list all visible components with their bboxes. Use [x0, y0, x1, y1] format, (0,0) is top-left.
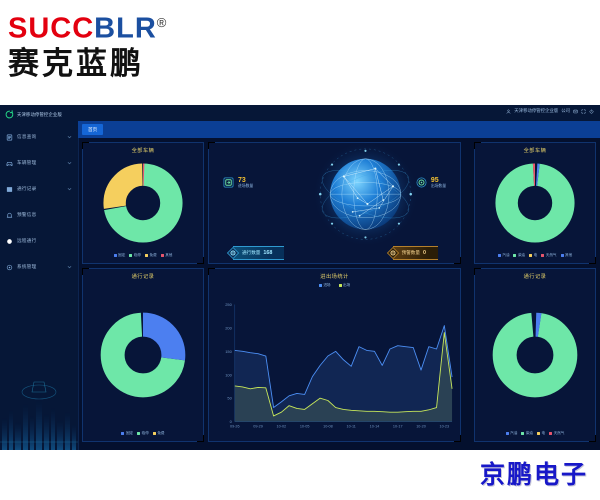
bell-icon	[6, 212, 13, 219]
sidebar-item-label: 远程通行	[17, 238, 37, 244]
x-axis-tick-label: 10-20	[416, 425, 426, 429]
kpi-exit-count: 95 出场数量	[416, 177, 446, 189]
donut-chart-passage-fuel	[475, 282, 595, 427]
donut-chart-all-vehicles-fuel	[475, 156, 595, 249]
y-axis-tick-label: 50	[227, 396, 232, 401]
legend-item: 电	[537, 431, 545, 436]
legend-label: 其他	[565, 253, 572, 258]
user-icon	[506, 109, 511, 114]
panel-all-vehicles-fuel: 全部车辆 汽油 柴油 电 天然气 其他	[474, 142, 596, 264]
legend-label: 电	[534, 253, 538, 258]
fullscreen-icon[interactable]	[581, 109, 586, 114]
panel-passage-statistics: 进出场统计 进场 出场 05010015020025009-2609-2910-…	[208, 268, 461, 442]
clipboard-icon	[6, 134, 13, 141]
legend-item: 临停	[137, 431, 149, 436]
panel-legend: 汽油 柴油 电 天然气 其他	[475, 253, 595, 258]
sidebar-item-label: 预警信息	[17, 212, 37, 218]
x-axis-tick-label: 10-05	[300, 425, 310, 429]
legend-label: 汽油	[502, 253, 509, 258]
sidebar-item-label: 通行记录	[17, 186, 37, 192]
legend-label: 进场	[323, 283, 330, 288]
legend-label: 固定	[118, 253, 125, 258]
legend-item: 免费	[145, 253, 157, 258]
legend-label: 固定	[126, 431, 133, 436]
legend-item: 柴油	[513, 253, 525, 258]
list-icon	[6, 186, 13, 193]
legend-item: 出场	[339, 283, 351, 288]
sidebar-item-label: 信息查询	[17, 134, 37, 140]
tab-label: 首页	[88, 127, 97, 133]
legend-item: 汽油	[506, 431, 518, 436]
donut-svg	[97, 309, 189, 401]
watermark-bar: 京鹏电子	[0, 450, 600, 500]
chevron-down-icon	[67, 265, 72, 270]
legend-label: 柴油	[526, 431, 533, 436]
globe-visualization	[209, 143, 460, 263]
company-logo: SUCCBLR® 赛克蓝鹏	[8, 8, 167, 82]
dashboard: 全部车辆 固定 临停 免费 其他	[78, 138, 600, 450]
tab-home[interactable]: 首页	[82, 124, 103, 135]
x-axis-tick-label: 10-02	[277, 425, 287, 429]
badge-alert-count: 预警数量 0	[393, 247, 438, 259]
registered-mark-icon: ®	[157, 15, 168, 30]
donut-svg	[100, 160, 186, 246]
legend-label: 汽油	[510, 431, 517, 436]
donut-svg	[489, 309, 581, 401]
panel-title: 全部车辆	[83, 143, 203, 154]
sidebar-brand-label: 天津移动停管控企业版	[17, 112, 62, 118]
message-icon[interactable]	[573, 109, 578, 114]
legend-label: 免费	[150, 253, 157, 258]
panel-title: 全部车辆	[475, 143, 595, 154]
badge-label: 通行数量	[242, 250, 260, 256]
legend-item: 其他	[161, 253, 173, 258]
topbar-user-label: 天津移动停管控企业版	[514, 108, 558, 114]
logo-blr-text: BLR	[94, 13, 157, 45]
legend-label: 柴油	[518, 253, 525, 258]
sidebar-item-info-query[interactable]: 信息查询	[0, 124, 78, 150]
donut-svg	[492, 160, 578, 246]
chevron-down-icon	[67, 135, 72, 140]
kpi-entry-count: 73 进场数量	[223, 177, 253, 189]
panel-title: 通行记录	[83, 269, 203, 280]
topbar-company-label: 公司	[561, 108, 570, 114]
panel-title: 通行记录	[475, 269, 595, 280]
car-icon	[6, 160, 13, 167]
kpi-label: 进场数量	[238, 185, 253, 189]
legend-item: 免费	[153, 431, 165, 436]
x-axis-tick-label: 10-14	[370, 425, 380, 429]
chevron-down-icon	[67, 187, 72, 192]
chevron-down-icon	[67, 161, 72, 166]
legend-label: 天然气	[554, 431, 565, 436]
sidebar-brand: 天津移动停管控企业版	[0, 105, 78, 124]
y-axis-tick-label: 100	[225, 372, 232, 377]
sidebar-decoration	[0, 330, 78, 450]
x-axis-tick-label: 09-29	[253, 425, 263, 429]
panel-legend: 汽油 柴油 电 天然气	[475, 431, 595, 436]
top-bar: 天津移动停管控企业版 公司	[78, 105, 600, 122]
power-icon	[5, 110, 14, 119]
sidebar-item-alert-info[interactable]: 预警信息	[0, 202, 78, 228]
dot-icon	[6, 238, 13, 245]
logo-succ-text: SUCC	[8, 13, 94, 45]
exit-icon	[416, 177, 427, 188]
sidebar-item-system-management[interactable]: 系统管理	[0, 254, 78, 280]
y-axis-tick-label: 150	[225, 349, 232, 354]
badge-passage-count: 通行数量 168	[233, 247, 284, 259]
legend-label: 出场	[343, 283, 350, 288]
power-icon[interactable]	[589, 109, 594, 114]
chart-legend: 进场 出场	[209, 283, 460, 288]
gear-icon	[6, 264, 13, 271]
legend-item: 进场	[319, 283, 331, 288]
panel-all-vehicles-type: 全部车辆 固定 临停 免费 其他	[82, 142, 204, 264]
application-window: 天津移动停管控企业版 信息查询 车辆管理 通行记录 预警信息 远程通行	[0, 105, 600, 450]
badge-label: 预警数量	[402, 250, 420, 256]
badge-value: 168	[263, 250, 272, 256]
area-chart-passage-statistics: 05010015020025009-2609-2910-0210-0510-08…	[209, 297, 460, 439]
x-axis-tick-label: 10-11	[347, 425, 356, 429]
legend-label: 临停	[142, 431, 149, 436]
panel-title: 进出场统计	[209, 269, 460, 280]
diamond-icon	[387, 247, 399, 259]
entry-icon	[223, 177, 234, 188]
kpi-label: 出场数量	[431, 185, 446, 189]
legend-label: 其他	[165, 253, 172, 258]
watermark-text: 京鹏电子	[480, 455, 588, 491]
sidebar-item-passage-records[interactable]: 通行记录	[0, 176, 78, 202]
topbar-user-area[interactable]: 天津移动停管控企业版 公司	[506, 108, 594, 114]
x-axis-tick-label: 10-17	[393, 425, 403, 429]
logo-chinese: 赛克蓝鹏	[8, 46, 167, 82]
legend-item: 天然气	[549, 431, 564, 436]
x-axis-tick-label: 10-08	[323, 425, 333, 429]
x-axis-tick-label: 09-26	[230, 425, 240, 429]
sidebar-item-label: 车辆管理	[17, 160, 37, 166]
panel-globe-overview: 73 进场数量 95 出场数量 通行数量 168	[208, 142, 461, 264]
legend-item: 柴油	[521, 431, 533, 436]
sidebar-item-label: 系统管理	[17, 264, 37, 270]
sidebar-item-remote-passage[interactable]: 远程通行	[0, 228, 78, 254]
panel-legend: 固定 临停 免费 其他	[83, 253, 203, 258]
y-axis-tick-label: 200	[225, 326, 232, 331]
sidebar: 天津移动停管控企业版 信息查询 车辆管理 通行记录 预警信息 远程通行	[0, 105, 79, 450]
legend-label: 免费	[157, 431, 164, 436]
donut-chart-passage-type	[83, 282, 203, 427]
y-axis-tick-label: 0	[230, 419, 233, 424]
sidebar-item-vehicle-management[interactable]: 车辆管理	[0, 150, 78, 176]
tab-bar: 首页	[78, 121, 600, 138]
legend-item: 电	[529, 253, 537, 258]
legend-item: 固定	[121, 431, 133, 436]
x-axis-tick-label: 10-23	[440, 425, 450, 429]
legend-item: 临停	[129, 253, 141, 258]
panel-passage-records-fuel: 通行记录 汽油 柴油 电 天然气	[474, 268, 596, 442]
brand-header: SUCCBLR® 赛克蓝鹏	[0, 0, 600, 105]
legend-label: 临停	[134, 253, 141, 258]
y-axis-tick-label: 250	[225, 302, 232, 307]
panel-passage-records-type: 通行记录 固定 临停 免费	[82, 268, 204, 442]
panel-legend: 固定 临停 免费	[83, 431, 203, 436]
kpi-value: 73	[238, 177, 253, 184]
logo-latin: SUCCBLR®	[8, 8, 167, 44]
legend-item: 其他	[561, 253, 573, 258]
legend-item: 天然气	[541, 253, 556, 258]
legend-item: 汽油	[498, 253, 510, 258]
legend-label: 电	[542, 431, 546, 436]
badge-value: 0	[423, 250, 426, 256]
legend-label: 天然气	[546, 253, 557, 258]
diamond-icon	[227, 247, 239, 259]
kpi-value: 95	[431, 177, 446, 184]
donut-chart-all-vehicles-type	[83, 156, 203, 249]
legend-item: 固定	[114, 253, 126, 258]
